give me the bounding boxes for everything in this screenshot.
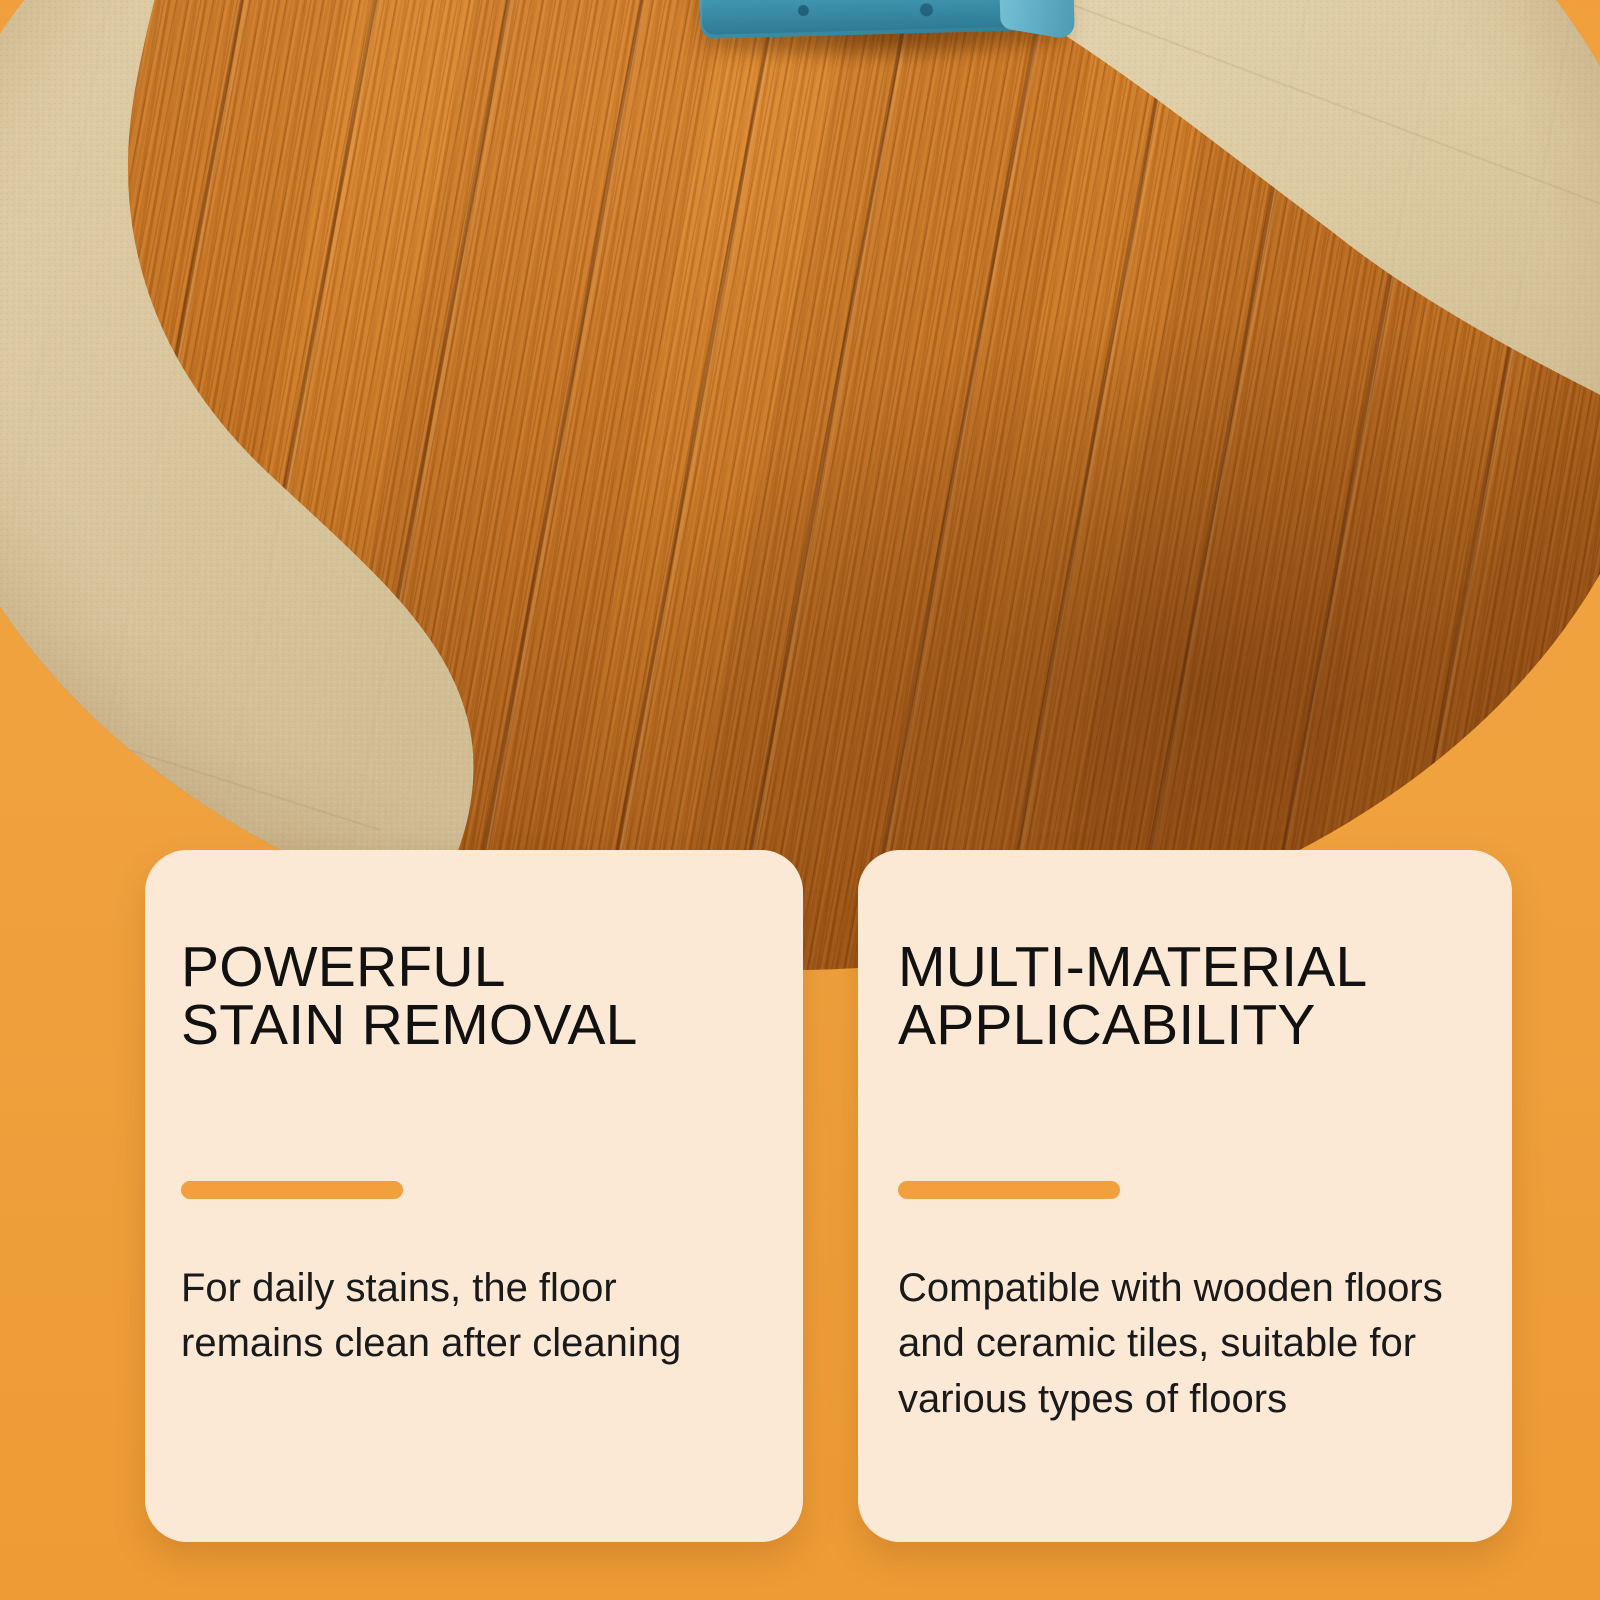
card-accent-bar (898, 1181, 1120, 1199)
card-content: POWERFUL STAIN REMOVAL For daily stains,… (181, 938, 751, 1372)
card-title: POWERFUL STAIN REMOVAL (181, 938, 751, 1054)
hero-floor-photo (0, 0, 1600, 970)
card-accent-bar (181, 1181, 403, 1199)
feature-card-multi-material-applicability[interactable]: MULTI-MATERIAL APPLICABILITY Compatible … (858, 850, 1512, 1542)
feature-card-list: POWERFUL STAIN REMOVAL For daily stains,… (145, 850, 1512, 1542)
card-description: For daily stains, the floor remains clea… (181, 1261, 721, 1371)
cleaned-floor-overlay (0, 0, 1600, 970)
feature-card-powerful-stain-removal[interactable]: POWERFUL STAIN REMOVAL For daily stains,… (145, 850, 803, 1542)
card-title: MULTI-MATERIAL APPLICABILITY (898, 938, 1468, 1054)
feature-poster: POWERFUL STAIN REMOVAL For daily stains,… (0, 0, 1600, 1600)
card-description: Compatible with wooden floors and cerami… (898, 1261, 1458, 1427)
card-content: MULTI-MATERIAL APPLICABILITY Compatible … (898, 938, 1468, 1427)
sponge-mop-head (698, 0, 1083, 109)
